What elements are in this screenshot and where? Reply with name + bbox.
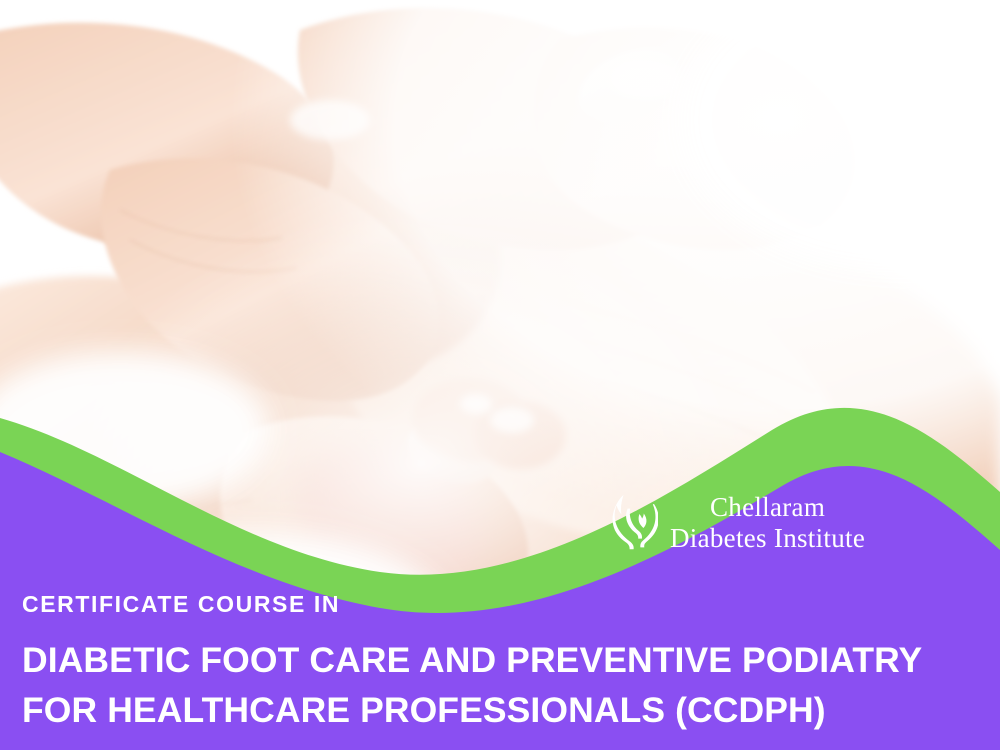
chellaram-flame-icon [612, 492, 658, 554]
course-eyebrow: CERTIFICATE COURSE IN [22, 590, 982, 619]
logo-line-two: Diabetes Institute [670, 523, 865, 554]
chellaram-diabetes-institute-logo: Chellaram Diabetes Institute [612, 492, 865, 554]
logo-line-one: Chellaram [670, 492, 865, 523]
course-banner: Chellaram Diabetes Institute CERTIFICATE… [0, 0, 1000, 750]
banner-text-block: CERTIFICATE COURSE IN DIABETIC FOOT CARE… [22, 590, 982, 736]
page-title: DIABETIC FOOT CARE AND PREVENTIVE PODIAT… [22, 635, 982, 736]
headline-line-one: DIABETIC FOOT CARE AND PREVENTIVE PODIAT… [22, 635, 982, 685]
logo-wordmark: Chellaram Diabetes Institute [670, 492, 865, 554]
headline-line-two: FOR HEALTHCARE PROFESSIONALS (CCDPH) [22, 685, 982, 735]
